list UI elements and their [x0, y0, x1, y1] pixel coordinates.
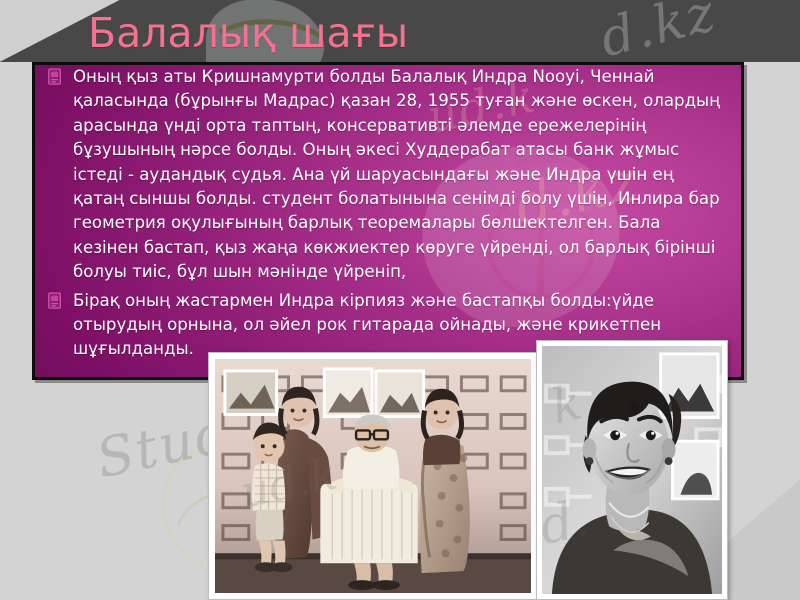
document-bullet-icon: [47, 68, 65, 88]
document-bullet-icon: [47, 292, 65, 312]
paragraph-item: Оның қыз аты Кришнамурти болды Балалық И…: [35, 65, 741, 285]
family-photograph-frame: ud.k: [215, 359, 531, 593]
portrait-photograph-image: d. k: [542, 346, 722, 594]
family-photograph[interactable]: ud.k: [208, 352, 538, 600]
paragraph-text: Оның қыз аты Кришнамурти болды Балалық И…: [73, 65, 727, 285]
presentation-slide: Stud Stud. d.kz Балалық шағы d.kz ud.k: [0, 0, 800, 600]
family-photograph-image: ud.k: [215, 359, 531, 593]
slide-title: Балалық шағы: [88, 8, 408, 58]
content-textbox: d.kz ud.k Оның қыз аты Кришнамурти болды…: [32, 62, 744, 380]
portrait-photograph[interactable]: d. k: [536, 340, 728, 600]
portrait-photograph-frame: d. k: [542, 346, 722, 594]
